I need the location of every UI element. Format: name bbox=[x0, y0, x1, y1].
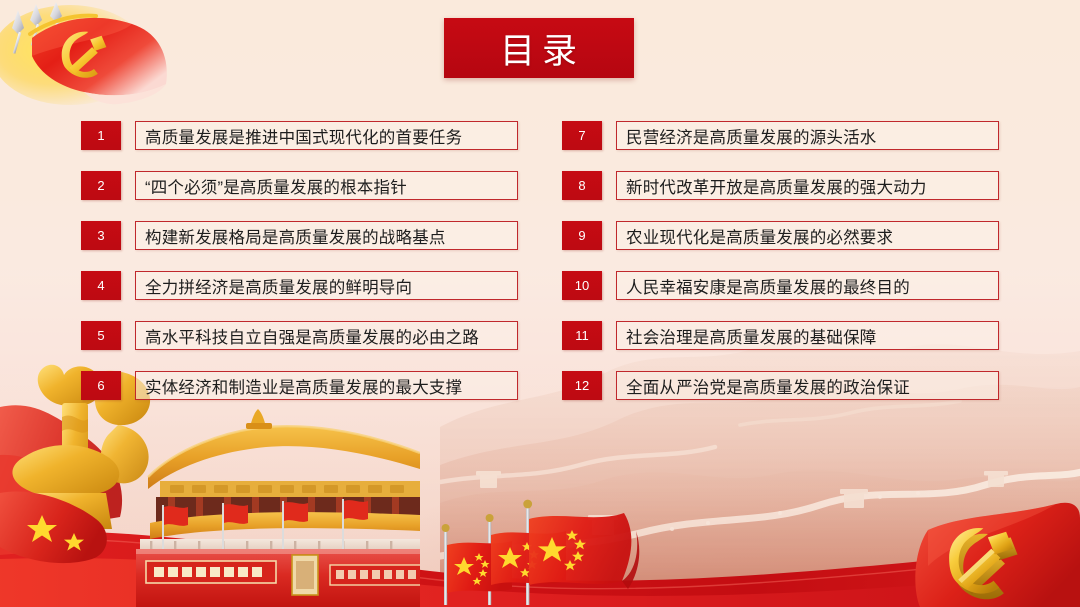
toc-item-6[interactable]: 6 实体经济和制造业是高质量发展的最大支撑 bbox=[81, 371, 518, 400]
toc-number-badge: 2 bbox=[81, 171, 121, 200]
banner-right bbox=[330, 565, 420, 585]
page-title: 目录 bbox=[444, 18, 634, 78]
toc-number-badge: 5 bbox=[81, 321, 121, 350]
toc-item-7[interactable]: 7 民营经济是高质量发展的源头活水 bbox=[562, 121, 999, 150]
toc-item-3[interactable]: 3 构建新发展格局是高质量发展的战略基点 bbox=[81, 221, 518, 250]
toc-item-label: 新时代改革开放是高质量发展的强大动力 bbox=[626, 174, 927, 198]
toc-number-badge: 7 bbox=[562, 121, 602, 150]
toc-item-label: 民营经济是高质量发展的源头活水 bbox=[626, 124, 877, 148]
toc-text-box[interactable]: 全面从严治党是高质量发展的政治保证 bbox=[616, 371, 999, 400]
toc-item-label: 社会治理是高质量发展的基础保障 bbox=[626, 324, 877, 348]
prc-national-flags-icon bbox=[400, 497, 670, 607]
toc-item-4[interactable]: 4 全力拼经济是高质量发展的鲜明导向 bbox=[81, 271, 518, 300]
toc-item-2[interactable]: 2 “四个必须”是高质量发展的根本指针 bbox=[81, 171, 518, 200]
toc-item-label: 高水平科技自立自强是高质量发展的必由之路 bbox=[145, 324, 479, 348]
toc-number-badge: 6 bbox=[81, 371, 121, 400]
toc-text-box[interactable]: 高质量发展是推进中国式现代化的首要任务 bbox=[135, 121, 518, 150]
toc-item-10[interactable]: 10 人民幸福安康是高质量发展的最终目的 bbox=[562, 271, 999, 300]
toc-item-label: 人民幸福安康是高质量发展的最终目的 bbox=[626, 274, 910, 298]
toc-item-12[interactable]: 12 全面从严治党是高质量发展的政治保证 bbox=[562, 371, 999, 400]
toc-number-badge: 11 bbox=[562, 321, 602, 350]
toc-number-badge: 9 bbox=[562, 221, 602, 250]
cpc-party-flag-icon bbox=[0, 0, 190, 115]
toc-item-1[interactable]: 1 高质量发展是推进中国式现代化的首要任务 bbox=[81, 121, 518, 150]
toc-number-badge: 8 bbox=[562, 171, 602, 200]
toc-item-label: “四个必须”是高质量发展的根本指针 bbox=[145, 174, 407, 198]
page-title-text: 目录 bbox=[494, 23, 584, 74]
toc-item-label: 农业现代化是高质量发展的必然要求 bbox=[626, 224, 893, 248]
toc-text-box[interactable]: 新时代改革开放是高质量发展的强大动力 bbox=[616, 171, 999, 200]
toc-item-11[interactable]: 11 社会治理是高质量发展的基础保障 bbox=[562, 321, 999, 350]
toc-text-box[interactable]: “四个必须”是高质量发展的根本指针 bbox=[135, 171, 518, 200]
toc-item-8[interactable]: 8 新时代改革开放是高质量发展的强大动力 bbox=[562, 171, 999, 200]
toc-number-badge: 4 bbox=[81, 271, 121, 300]
table-of-contents: 1 高质量发展是推进中国式现代化的首要任务 7 民营经济是高质量发展的源头活水 … bbox=[81, 121, 999, 400]
toc-text-box[interactable]: 高水平科技自立自强是高质量发展的必由之路 bbox=[135, 321, 518, 350]
slide-canvas: 目录 1 高质量发展是推进中国式现代化的首要任务 7 民营经济是高质量发展的源头… bbox=[0, 0, 1080, 607]
toc-text-box[interactable]: 全力拼经济是高质量发展的鲜明导向 bbox=[135, 271, 518, 300]
toc-text-box[interactable]: 社会治理是高质量发展的基础保障 bbox=[616, 321, 999, 350]
toc-number-badge: 3 bbox=[81, 221, 121, 250]
toc-text-box[interactable]: 人民幸福安康是高质量发展的最终目的 bbox=[616, 271, 999, 300]
hammer-sickle-emblem-icon bbox=[910, 492, 1080, 607]
toc-item-label: 实体经济和制造业是高质量发展的最大支撑 bbox=[145, 374, 462, 398]
toc-item-label: 构建新发展格局是高质量发展的战略基点 bbox=[145, 224, 446, 248]
toc-item-5[interactable]: 5 高水平科技自立自强是高质量发展的必由之路 bbox=[81, 321, 518, 350]
toc-number-badge: 12 bbox=[562, 371, 602, 400]
toc-item-label: 高质量发展是推进中国式现代化的首要任务 bbox=[145, 124, 462, 148]
toc-text-box[interactable]: 实体经济和制造业是高质量发展的最大支撑 bbox=[135, 371, 518, 400]
toc-item-label: 全面从严治党是高质量发展的政治保证 bbox=[626, 374, 910, 398]
toc-text-box[interactable]: 民营经济是高质量发展的源头活水 bbox=[616, 121, 999, 150]
toc-item-label: 全力拼经济是高质量发展的鲜明导向 bbox=[145, 274, 412, 298]
toc-text-box[interactable]: 构建新发展格局是高质量发展的战略基点 bbox=[135, 221, 518, 250]
toc-item-9[interactable]: 9 农业现代化是高质量发展的必然要求 bbox=[562, 221, 999, 250]
toc-number-badge: 1 bbox=[81, 121, 121, 150]
banner-left bbox=[146, 561, 276, 583]
toc-number-badge: 10 bbox=[562, 271, 602, 300]
toc-text-box[interactable]: 农业现代化是高质量发展的必然要求 bbox=[616, 221, 999, 250]
